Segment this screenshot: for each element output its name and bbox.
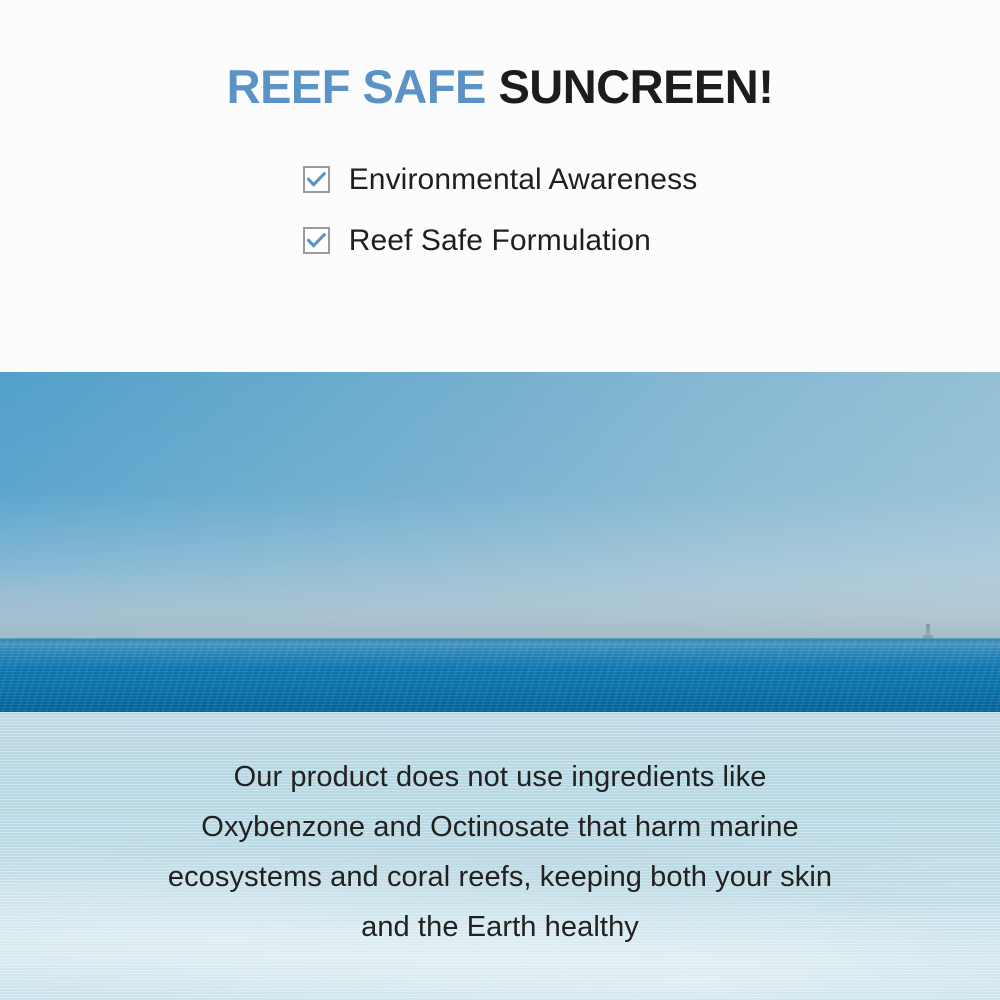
body-copy-line: Oxybenzone and Octinosate that harm mari… — [70, 802, 930, 852]
checklist-item-label: Reef Safe Formulation — [349, 226, 651, 256]
checkmark-icon — [307, 233, 326, 248]
checkbox-checked[interactable] — [303, 227, 330, 254]
reef-safe-suncreen-poster: REEF SAFE SUNCREEN! Environmental Awaren… — [0, 0, 1000, 1000]
feature-checklist: Environmental Awareness Reef Safe Formul… — [303, 165, 698, 256]
body-copy: Our product does not use ingredients lik… — [0, 752, 1000, 952]
list-item: Environmental Awareness — [303, 165, 698, 195]
headline-main-text: SUNCREEN! — [498, 60, 773, 113]
body-copy-line: ecosystems and coral reefs, keeping both… — [70, 852, 930, 902]
body-copy-line: and the Earth healthy — [70, 902, 930, 952]
ocean-ripple-texture-diagonal — [0, 638, 1000, 713]
distant-vessel — [926, 624, 930, 638]
body-copy-line: Our product does not use ingredients lik… — [70, 752, 930, 802]
top-panel: REEF SAFE SUNCREEN! Environmental Awaren… — [0, 0, 1000, 372]
sky-region — [0, 372, 1000, 639]
checkbox-checked[interactable] — [303, 166, 330, 193]
page-title: REEF SAFE SUNCREEN! — [227, 62, 774, 113]
headline-accent-text: REEF SAFE — [227, 60, 486, 113]
list-item: Reef Safe Formulation — [303, 226, 651, 256]
checkmark-icon — [307, 172, 326, 187]
ocean-region — [0, 638, 1000, 713]
checklist-item-label: Environmental Awareness — [349, 165, 698, 195]
horizon-haze — [0, 569, 1000, 639]
